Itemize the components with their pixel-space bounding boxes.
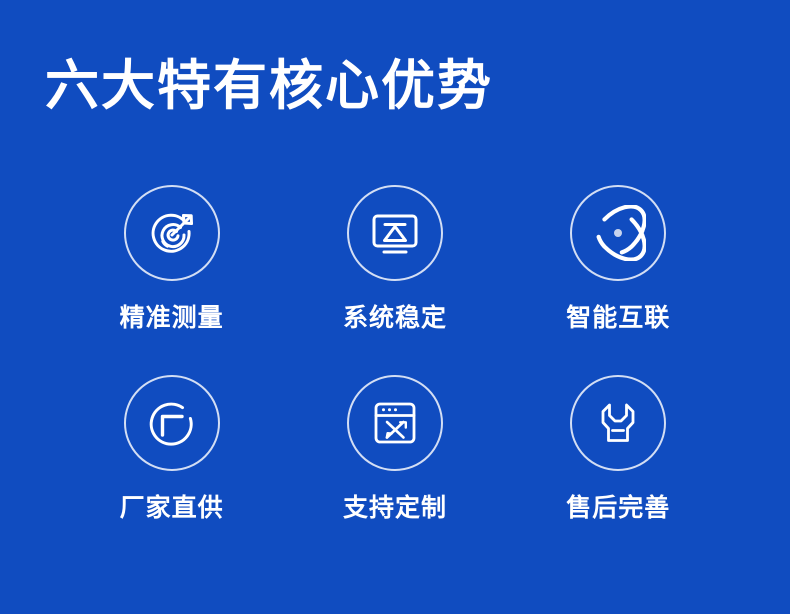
feature-item-smart-interconnection[interactable]: 智能互联	[513, 185, 723, 375]
wrench-icon	[590, 395, 646, 451]
atom-orbit-icon	[590, 205, 646, 261]
icon-ring	[347, 185, 443, 281]
feature-item-customization-support[interactable]: 支持定制	[290, 375, 500, 565]
icon-ring	[124, 185, 220, 281]
feature-label: 厂家直供	[120, 493, 224, 523]
feature-item-after-sales-service[interactable]: 售后完善	[513, 375, 723, 565]
icon-ring	[570, 185, 666, 281]
feature-label: 售后完善	[566, 493, 670, 523]
feature-label: 智能互联	[566, 303, 670, 333]
factory-circle-icon	[144, 395, 200, 451]
feature-label: 支持定制	[343, 493, 447, 523]
target-arrow-icon	[144, 205, 200, 261]
feature-item-precise-measurement[interactable]: 精准测量	[67, 185, 277, 375]
page-title: 六大特有核心优势	[45, 54, 493, 118]
feature-label: 系统稳定	[343, 303, 447, 333]
feature-item-factory-direct[interactable]: 厂家直供	[67, 375, 277, 565]
icon-ring	[570, 375, 666, 471]
feature-label: 精准测量	[120, 303, 224, 333]
icon-ring	[347, 375, 443, 471]
feature-item-system-stability[interactable]: 系统稳定	[290, 185, 500, 375]
monitor-triangle-icon	[367, 205, 423, 261]
feature-grid: 精准测量 系统稳定	[60, 185, 730, 565]
icon-ring	[124, 375, 220, 471]
browser-tools-icon	[367, 395, 423, 451]
feature-highlight-poster: 六大特有核心优势 精准测量	[0, 0, 790, 614]
